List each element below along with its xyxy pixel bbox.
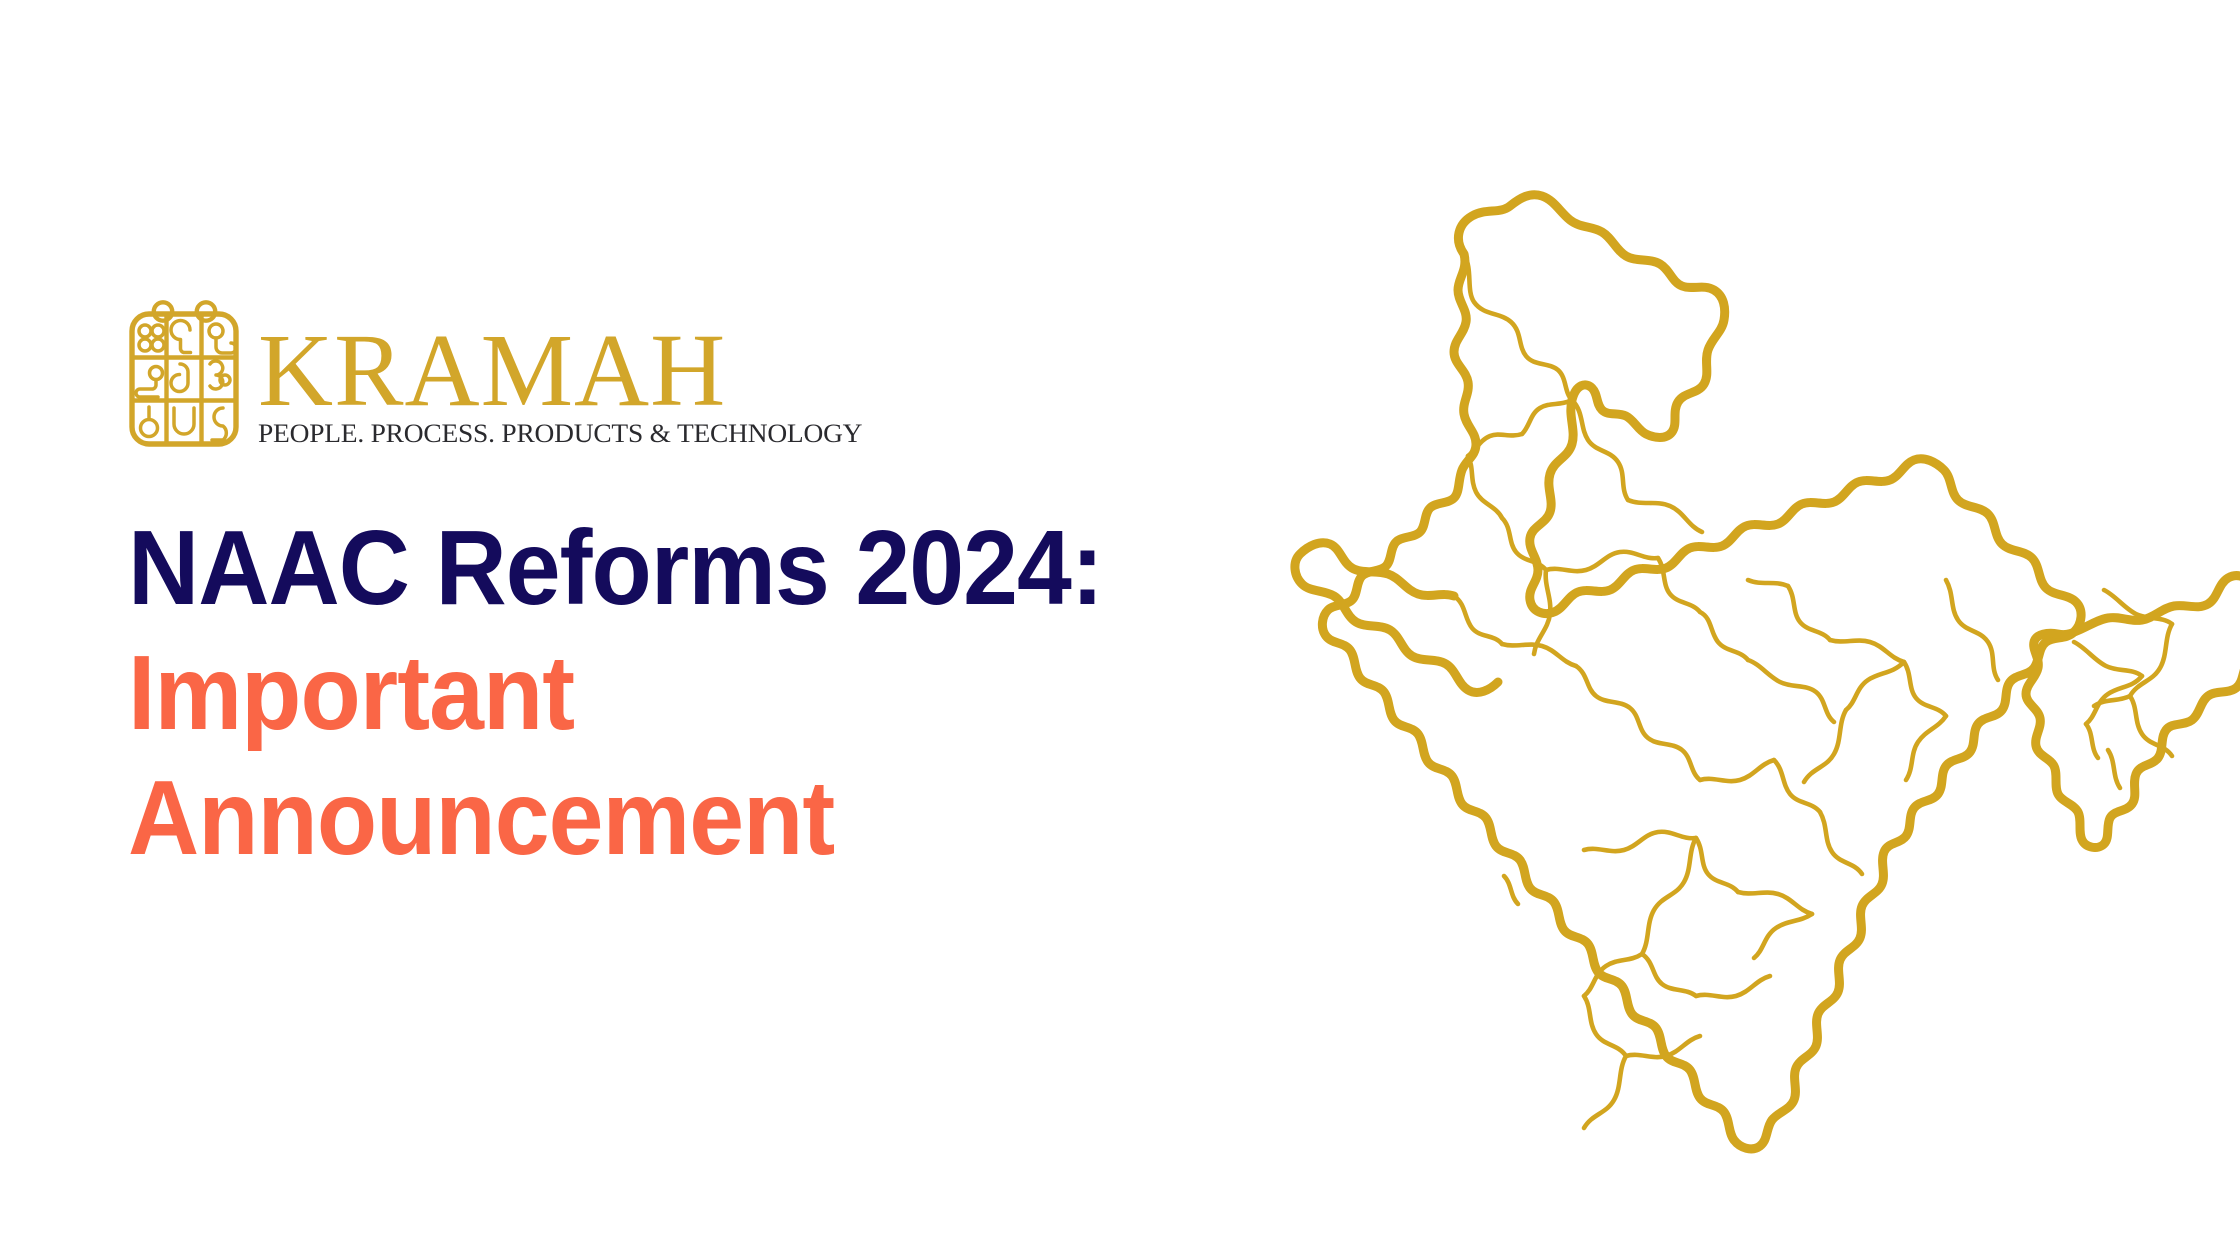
announcement-banner: KRAMAH PEOPLE. PROCESS. PRODUCTS & TECHN… <box>0 0 2240 1260</box>
india-map-icon <box>1268 150 2240 1160</box>
headline-line-1: NAAC Reforms 2024: <box>128 506 1114 631</box>
headline-line-2: Important <box>128 631 1114 756</box>
headline-block: NAAC Reforms 2024: Important Announcemen… <box>128 506 1188 881</box>
logo-wordmark: KRAMAH <box>258 326 842 415</box>
logo-tagline: PEOPLE. PROCESS. PRODUCTS & TECHNOLOGY <box>258 420 862 447</box>
logo-text-block: KRAMAH PEOPLE. PROCESS. PRODUCTS & TECHN… <box>258 300 842 447</box>
headline-line-3: Announcement <box>128 756 1114 881</box>
kramah-logo: KRAMAH PEOPLE. PROCESS. PRODUCTS & TECHN… <box>128 300 1188 450</box>
kramah-grid-glyph-mark-icon <box>128 300 240 448</box>
content-column: KRAMAH PEOPLE. PROCESS. PRODUCTS & TECHN… <box>128 300 1188 881</box>
india-map <box>1268 150 2240 1160</box>
